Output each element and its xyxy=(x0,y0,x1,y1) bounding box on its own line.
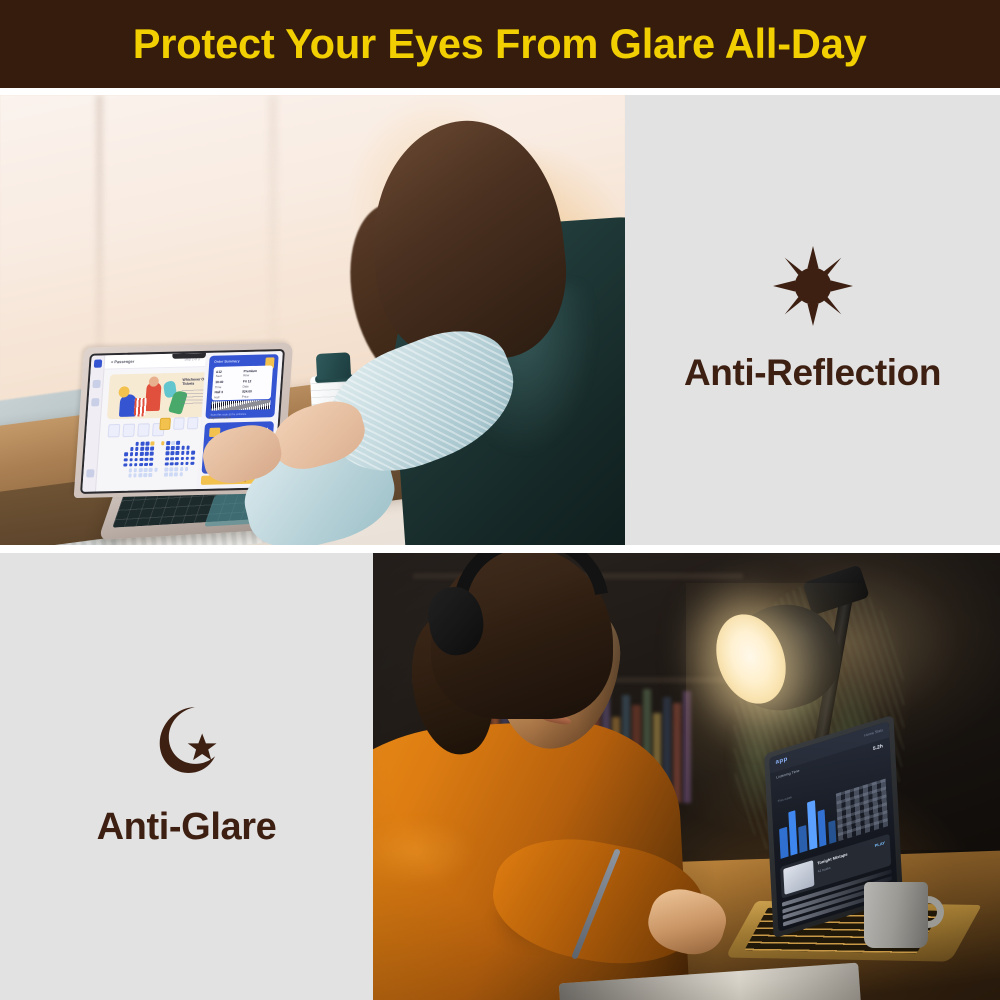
seat xyxy=(164,467,168,471)
seat xyxy=(175,462,179,466)
seat-gap xyxy=(156,447,160,451)
seat xyxy=(169,467,173,471)
seat xyxy=(144,463,148,467)
seat xyxy=(134,458,138,462)
seat xyxy=(139,468,143,472)
seat xyxy=(165,452,169,456)
seat-gap xyxy=(160,462,164,466)
seat-gap xyxy=(156,441,160,445)
seat-gap xyxy=(125,447,129,451)
sun-icon xyxy=(773,246,853,326)
seat xyxy=(154,468,158,472)
sidebar-icon-tickets xyxy=(91,398,99,406)
seat xyxy=(150,452,154,456)
seat xyxy=(149,468,153,472)
seat xyxy=(146,442,150,446)
poster-root: Protect Your Eyes From Glare All-Day xyxy=(0,0,1000,1000)
seat xyxy=(181,446,185,450)
sidebar-icon-home xyxy=(94,359,102,367)
seat xyxy=(151,441,155,445)
feature-anti-glare: Anti-Glare xyxy=(0,553,373,1000)
seat xyxy=(124,458,128,462)
ticket-field: 19:40Time xyxy=(215,379,242,389)
seat xyxy=(186,446,190,450)
seat xyxy=(138,473,142,477)
top-section: < Passenger Step 2 of 3 Whichever One fo… xyxy=(0,95,1000,545)
seat xyxy=(165,462,169,466)
seat xyxy=(185,467,189,471)
seat xyxy=(143,473,147,477)
seat-gap xyxy=(155,452,159,456)
seat xyxy=(150,447,154,451)
sidebar-icon-search xyxy=(92,380,100,388)
coffee-mug xyxy=(864,880,944,948)
seat-gap xyxy=(192,440,196,444)
seat xyxy=(170,451,174,455)
ticket-barcode xyxy=(211,400,271,411)
person-daytime xyxy=(335,115,625,545)
seat xyxy=(191,451,195,455)
seat-gap xyxy=(160,452,164,456)
seat-gap xyxy=(154,462,158,466)
seat xyxy=(185,456,189,460)
seat-gap xyxy=(184,472,188,476)
seat xyxy=(185,462,189,466)
seat-gap xyxy=(191,446,195,450)
seat-gap xyxy=(123,468,127,472)
seat xyxy=(130,447,134,451)
seat-gap xyxy=(181,441,185,445)
seat xyxy=(164,473,168,477)
seat-gap xyxy=(160,457,164,461)
seat xyxy=(166,441,170,445)
seat xyxy=(139,457,143,461)
seat-gap xyxy=(155,457,159,461)
webcam-notch xyxy=(172,353,206,359)
seat xyxy=(149,462,153,466)
ticket-field: Fri 12Date xyxy=(242,379,269,389)
time-chip xyxy=(173,417,185,429)
crescent-moon-star-icon xyxy=(149,704,225,776)
seat xyxy=(129,458,133,462)
seat xyxy=(174,472,178,476)
seat xyxy=(134,463,138,467)
seat-gap xyxy=(161,446,165,450)
seat xyxy=(135,442,139,446)
seat xyxy=(145,452,149,456)
ticket-field: PremiumRow xyxy=(243,368,270,378)
ticket-field: Hall 3Hall xyxy=(214,390,241,400)
seat xyxy=(124,453,128,457)
ticket-summary-card: Order Summary A12SeatPremiumRow19:40Time… xyxy=(205,354,278,419)
seat xyxy=(150,457,154,461)
bottom-section: app Home Stats Listening Time 5.2h This … xyxy=(0,553,1000,1000)
seat xyxy=(133,473,137,477)
seat xyxy=(129,463,133,467)
seat xyxy=(170,457,174,461)
seat-gap xyxy=(190,467,194,471)
seat xyxy=(171,446,175,450)
seat xyxy=(130,452,134,456)
mug-body xyxy=(864,882,928,948)
illustration-popcorn xyxy=(134,398,147,417)
feature-label-anti-glare: Anti-Glare xyxy=(97,806,277,849)
seat xyxy=(144,468,148,472)
seat xyxy=(180,467,184,471)
time-chip-selected xyxy=(159,418,171,430)
seat xyxy=(180,456,184,460)
date-chip-row xyxy=(108,423,165,438)
ticket-field: A12Seat xyxy=(216,369,243,379)
date-chip xyxy=(122,424,135,437)
seat xyxy=(174,467,178,471)
seat xyxy=(170,462,174,466)
seat xyxy=(134,468,138,472)
feature-label-anti-reflection: Anti-Reflection xyxy=(684,352,941,394)
seat xyxy=(140,447,144,451)
seat xyxy=(176,446,180,450)
seat xyxy=(135,452,139,456)
window-frame-bar xyxy=(96,95,103,385)
seat-gap xyxy=(123,474,127,478)
photo-daytime-laptop-window: < Passenger Step 2 of 3 Whichever One fo… xyxy=(0,95,625,545)
seat xyxy=(161,441,165,445)
ticket-field-grid: A12SeatPremiumRow19:40TimeFri 12DateHall… xyxy=(212,365,273,400)
seat-gap xyxy=(187,441,191,445)
time-chip xyxy=(187,417,199,429)
lamp-clamp xyxy=(802,565,870,616)
seat xyxy=(186,451,190,455)
sidebar-icon-profile xyxy=(86,469,94,477)
app-back-label: < Passenger xyxy=(111,359,135,365)
date-chip xyxy=(108,424,121,437)
seat xyxy=(169,473,173,477)
feature-anti-reflection: Anti-Reflection xyxy=(625,95,1000,545)
payment-label: Payment Card xyxy=(209,415,230,420)
seat xyxy=(135,447,139,451)
ticket-summary-title: Order Summary xyxy=(214,359,240,364)
page-title: Protect Your Eyes From Glare All-Day xyxy=(133,20,867,68)
seat xyxy=(140,452,144,456)
seat-gap xyxy=(189,472,193,476)
seat xyxy=(175,457,179,461)
photo-night-desk-lamp: app Home Stats Listening Time 5.2h This … xyxy=(373,553,1000,1000)
seat-gap xyxy=(130,442,134,446)
seat xyxy=(149,473,153,477)
seat xyxy=(180,462,184,466)
seat xyxy=(179,472,183,476)
seat-gap xyxy=(154,473,158,477)
seat xyxy=(139,463,143,467)
seat xyxy=(165,457,169,461)
seat xyxy=(171,441,175,445)
seat-gap xyxy=(159,468,163,472)
seat xyxy=(128,474,132,478)
ticket-field: $24.00Price xyxy=(242,389,269,399)
seat-gap xyxy=(159,473,163,477)
seat xyxy=(128,468,132,472)
seat xyxy=(181,451,185,455)
seat xyxy=(166,446,170,450)
seat xyxy=(176,451,180,455)
seat xyxy=(190,462,194,466)
date-chip xyxy=(137,423,150,436)
illustration-person-red xyxy=(145,382,162,411)
window-frame-bar-2 xyxy=(270,95,276,345)
seat xyxy=(191,456,195,460)
seat xyxy=(145,457,149,461)
seat xyxy=(145,447,149,451)
seat xyxy=(124,463,128,467)
seat xyxy=(176,441,180,445)
seat xyxy=(141,442,145,446)
person-night xyxy=(373,553,763,1000)
seat-gap xyxy=(125,442,129,446)
header-banner: Protect Your Eyes From Glare All-Day xyxy=(0,0,1000,88)
